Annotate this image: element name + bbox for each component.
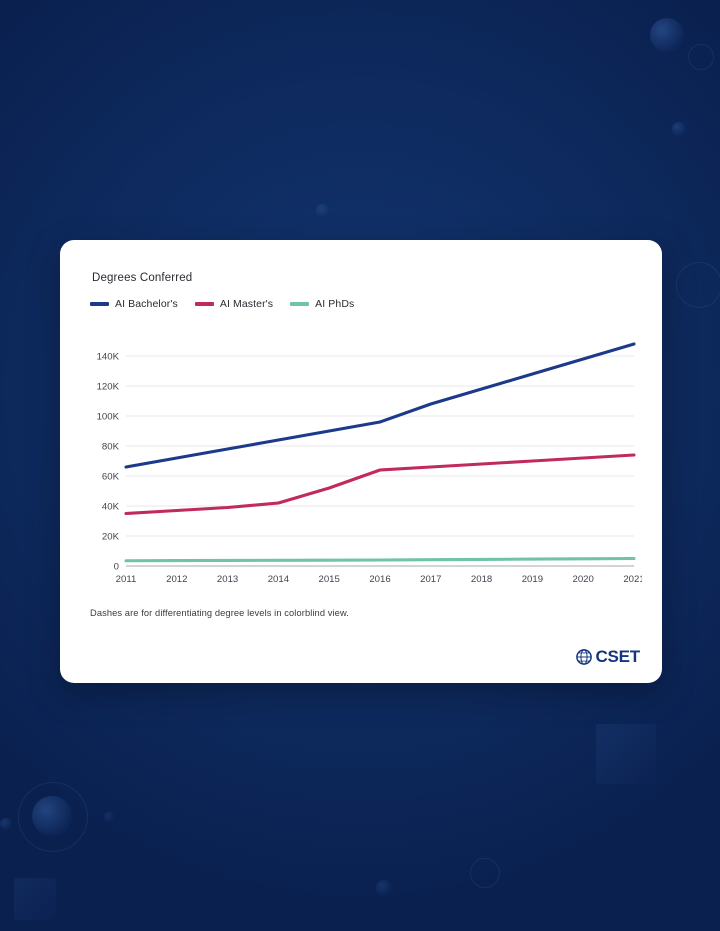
legend-item-phds[interactable]: AI PhDs <box>290 298 354 310</box>
y-axis-tick-label: 0 <box>114 561 119 572</box>
y-axis-tick-label: 140K <box>97 351 120 362</box>
x-axis-tick-label: 2021 <box>623 574 642 585</box>
x-axis-tick-label: 2017 <box>420 574 441 585</box>
x-axis-tick-label: 2014 <box>268 574 290 585</box>
x-axis-tick-label: 2015 <box>319 574 340 585</box>
y-axis-tick-label: 80K <box>102 441 120 452</box>
y-axis-tick-label: 100K <box>97 411 120 422</box>
y-axis-tick-label: 40K <box>102 501 120 512</box>
x-axis-tick-label: 2011 <box>116 574 137 585</box>
legend-swatch-phds <box>290 302 309 305</box>
series-line-ai-master-s <box>126 455 634 514</box>
globe-icon <box>576 649 592 665</box>
cset-logo[interactable]: CSET <box>576 647 640 667</box>
plot-area: 020K40K60K80K100K120K140K201120122013201… <box>84 320 640 592</box>
logo-text: CSET <box>595 647 640 667</box>
x-axis-tick-label: 2016 <box>369 574 390 585</box>
legend-item-bachelors[interactable]: AI Bachelor's <box>90 298 178 310</box>
chart-legend: AI Bachelor's AI Master's AI PhDs <box>90 298 640 310</box>
x-axis-tick-label: 2018 <box>471 574 492 585</box>
chart-footnote: Dashes are for differentiating degree le… <box>90 608 640 618</box>
x-axis-tick-label: 2019 <box>522 574 543 585</box>
legend-swatch-bachelors <box>90 302 109 305</box>
legend-item-masters[interactable]: AI Master's <box>195 298 273 310</box>
series-line-ai-phds <box>126 559 634 561</box>
y-axis-tick-label: 20K <box>102 531 120 542</box>
chart-title: Degrees Conferred <box>92 272 640 284</box>
x-axis-tick-label: 2013 <box>217 574 238 585</box>
y-axis-tick-label: 60K <box>102 471 120 482</box>
legend-swatch-masters <box>195 302 214 305</box>
x-axis-tick-label: 2020 <box>573 574 594 585</box>
legend-label-masters: AI Master's <box>220 298 273 310</box>
series-line-ai-bachelor-s <box>126 344 634 467</box>
line-chart-svg: 020K40K60K80K100K120K140K201120122013201… <box>84 320 642 592</box>
x-axis-tick-label: 2012 <box>166 574 187 585</box>
chart-card: Degrees Conferred AI Bachelor's AI Maste… <box>60 240 662 683</box>
legend-label-phds: AI PhDs <box>315 298 354 310</box>
legend-label-bachelors: AI Bachelor's <box>115 298 178 310</box>
y-axis-tick-label: 120K <box>97 381 120 392</box>
